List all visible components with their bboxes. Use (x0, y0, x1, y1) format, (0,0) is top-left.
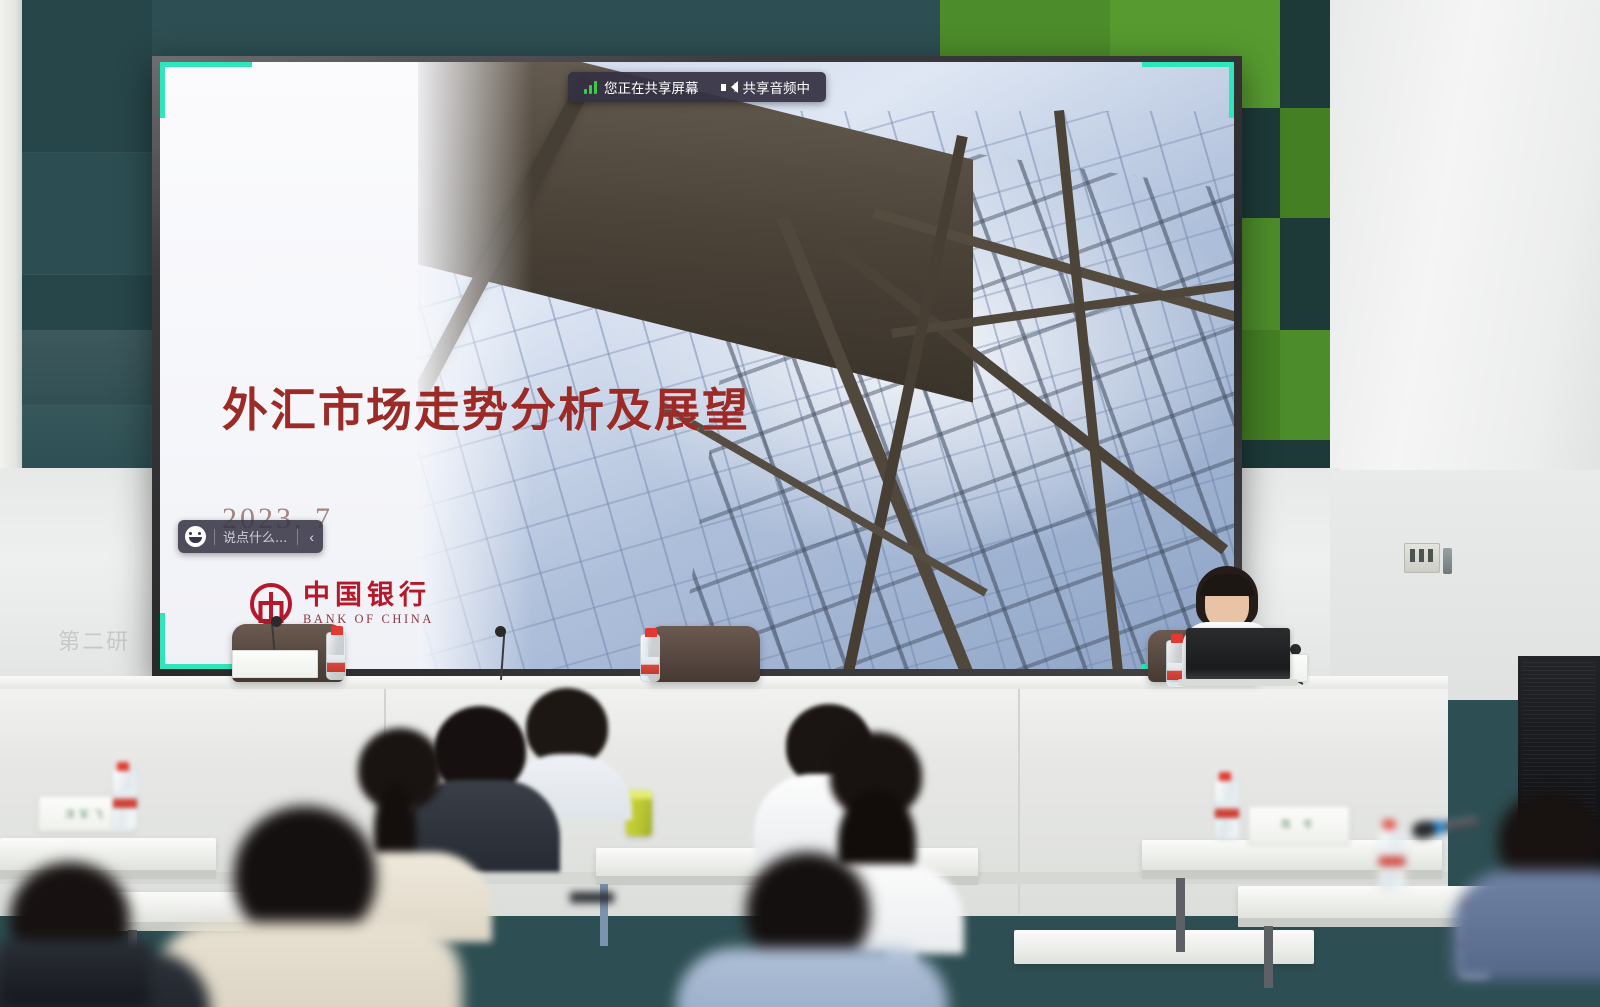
water-bottle (326, 632, 346, 680)
water-bottle (112, 768, 138, 830)
wall-panel-teal (22, 0, 152, 152)
foreground-shadow (0, 940, 150, 1007)
wall-column-left (0, 0, 22, 470)
sharing-screen-label: 您正在共享屏幕 (604, 77, 699, 97)
water-bottle (640, 634, 660, 682)
water-bottle (1214, 778, 1240, 840)
sharing-screen-status[interactable]: 您正在共享屏幕 (584, 77, 699, 97)
presentation-screen: 外汇市场走势分析及展望 2023. 7 中国银行 BANK OF CHINA 您… (152, 56, 1242, 678)
wall-panel-teal (22, 152, 152, 275)
logo-chinese-name: 中国银行 (303, 582, 434, 609)
screen-content: 外汇市场走势分析及展望 2023. 7 中国银行 BANK OF CHINA 您… (160, 62, 1234, 669)
sharing-audio-label: 共享音频中 (743, 77, 811, 97)
speaker-icon (721, 81, 736, 94)
screen-share-toolbar[interactable]: 您正在共享屏幕 共享音频中 (568, 72, 826, 102)
share-region-corner-icon (1142, 62, 1234, 118)
podium-name-card (232, 650, 318, 678)
desk-leg (1264, 926, 1273, 988)
podium-chair (648, 626, 760, 682)
microphone-head-icon (271, 616, 282, 627)
desk-leg (1176, 878, 1185, 952)
attendee (710, 852, 910, 1007)
share-region-corner-icon (160, 62, 252, 118)
chat-input-bar[interactable]: 说点什么... ‹ (178, 520, 323, 553)
divider (214, 529, 215, 545)
screenshot-root: 第二研 外汇市场走势分析及展望 2023. 7 中国银行 B (0, 0, 1600, 1007)
wall-light-falloff (0, 330, 160, 480)
microphone-head-icon (495, 626, 506, 637)
water-bottle (1378, 826, 1406, 892)
wall-switch-icon[interactable] (1443, 548, 1452, 574)
wall-control-plate-icon[interactable] (1404, 543, 1440, 573)
chevron-left-icon[interactable]: ‹ (305, 529, 318, 545)
slide-title: 外汇市场走势分析及展望 (222, 374, 902, 440)
attendee-name: 陈 岑 (1249, 816, 1349, 831)
slide-background-photo (418, 62, 1234, 669)
slide-left-band (160, 62, 418, 669)
signal-bars-icon (584, 81, 597, 94)
attendee (196, 806, 422, 1007)
mobile-phone (570, 892, 614, 903)
presenter-laptop (1186, 628, 1290, 680)
sharing-audio-status[interactable]: 共享音频中 (721, 77, 811, 97)
attendee-name-card: 陈 岑 (1248, 806, 1350, 844)
attendee (1462, 792, 1600, 942)
chat-input-placeholder[interactable]: 说点什么... (223, 527, 287, 546)
divider (297, 529, 298, 545)
smiley-face-icon[interactable] (185, 526, 206, 547)
